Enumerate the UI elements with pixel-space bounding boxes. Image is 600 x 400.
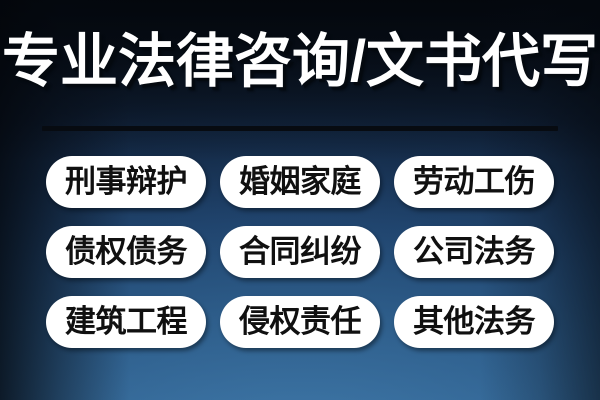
service-tag-criminal-defense[interactable]: 刑事辩护 [46, 156, 206, 208]
service-tag-tort-liability[interactable]: 侵权责任 [220, 296, 380, 348]
tag-row: 建筑工程 侵权责任 其他法务 [46, 296, 554, 348]
service-tag-creditor-debt[interactable]: 债权债务 [46, 226, 206, 278]
service-tag-marriage-family[interactable]: 婚姻家庭 [220, 156, 380, 208]
service-tag-labor-injury[interactable]: 劳动工伤 [394, 156, 554, 208]
service-tag-construction-engineering[interactable]: 建筑工程 [46, 296, 206, 348]
banner-headline: 专业法律咨询/文书代写 [0, 24, 600, 100]
promotional-banner: 专业法律咨询/文书代写 刑事辩护 婚姻家庭 劳动工伤 债权债务 合同纠纷 公司法… [0, 0, 600, 400]
tag-row: 刑事辩护 婚姻家庭 劳动工伤 [46, 156, 554, 208]
service-tag-contract-dispute[interactable]: 合同纠纷 [220, 226, 380, 278]
service-tag-grid: 刑事辩护 婚姻家庭 劳动工伤 债权债务 合同纠纷 公司法务 建筑工程 侵权责任 … [46, 156, 554, 348]
service-tag-corporate-legal[interactable]: 公司法务 [394, 226, 554, 278]
service-tag-other-legal[interactable]: 其他法务 [394, 296, 554, 348]
tag-row: 债权债务 合同纠纷 公司法务 [46, 226, 554, 278]
headline-divider [42, 126, 558, 131]
